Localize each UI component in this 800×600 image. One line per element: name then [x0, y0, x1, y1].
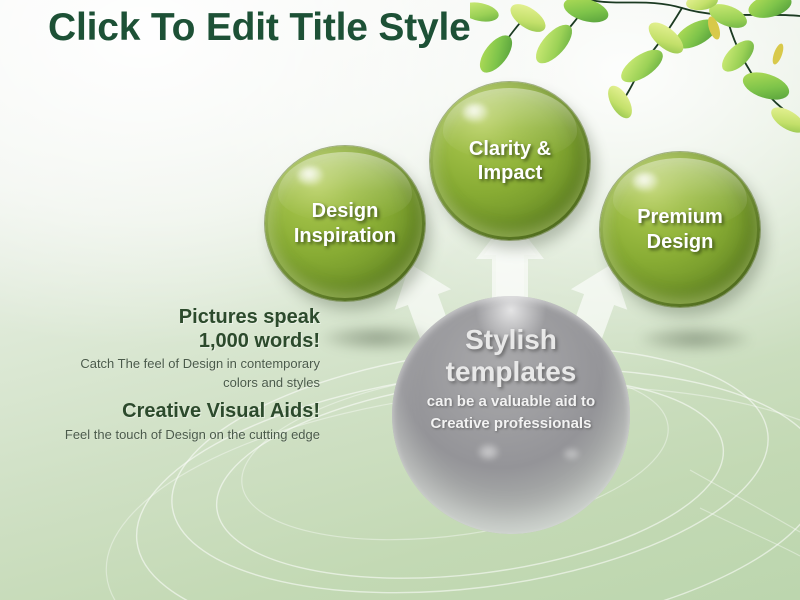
center-sub-line2: Creative professionals [392, 415, 630, 433]
center-sphere-text: Stylish templates can be a valuable aid … [392, 324, 630, 433]
orb-label-line2: Inspiration [294, 225, 396, 247]
orb-label-line1: Premium [637, 206, 723, 228]
orb-label-line2: Impact [478, 162, 542, 184]
block1-heading-line1: Pictures speak [20, 306, 320, 330]
sphere-highlight-a [478, 444, 499, 461]
orb-clarity-impact[interactable]: Clarity & Impact [430, 82, 590, 240]
orb-premium-design[interactable]: Premium Design [600, 152, 760, 307]
orb-label: Clarity & Impact [469, 137, 551, 186]
block2-sub-line1: Feel the touch of Design on the cutting … [20, 427, 320, 443]
center-sphere-stylish-templates[interactable]: Stylish templates can be a valuable aid … [392, 296, 630, 534]
orb-label-line2: Design [647, 231, 714, 253]
orb-label: Premium Design [637, 205, 723, 254]
orb-shadow-right [640, 326, 750, 352]
page-title: Click To Edit Title Style [48, 6, 471, 50]
orb-specular-highlight [297, 166, 324, 186]
block1-sub-line1: Catch The feel of Design in contemporary [20, 356, 320, 372]
block2-heading-line1: Creative Visual Aids! [20, 400, 320, 424]
orb-label-line1: Design [312, 200, 379, 222]
orb-specular-highlight [632, 172, 659, 192]
slide-canvas: Click To Edit Title Style Design Inspira… [0, 0, 800, 600]
orb-design-inspiration[interactable]: Design Inspiration [265, 146, 425, 301]
center-sub-line1: can be a valuable aid to [392, 393, 630, 411]
orb-label: Design Inspiration [294, 199, 396, 248]
text-block-pictures-speak: Pictures speak 1,000 words! Catch The fe… [20, 306, 320, 392]
text-block-creative-visual-aids: Creative Visual Aids! Feel the touch of … [20, 400, 320, 443]
block1-sub-line2: colors and styles [20, 375, 320, 391]
block1-heading-line2: 1,000 words! [20, 330, 320, 354]
orb-label-line1: Clarity & [469, 138, 551, 160]
orb-specular-highlight [462, 103, 489, 124]
center-headline-line1: Stylish [392, 324, 630, 356]
sphere-highlight-b [563, 448, 580, 460]
center-headline-line2: templates [392, 356, 630, 388]
